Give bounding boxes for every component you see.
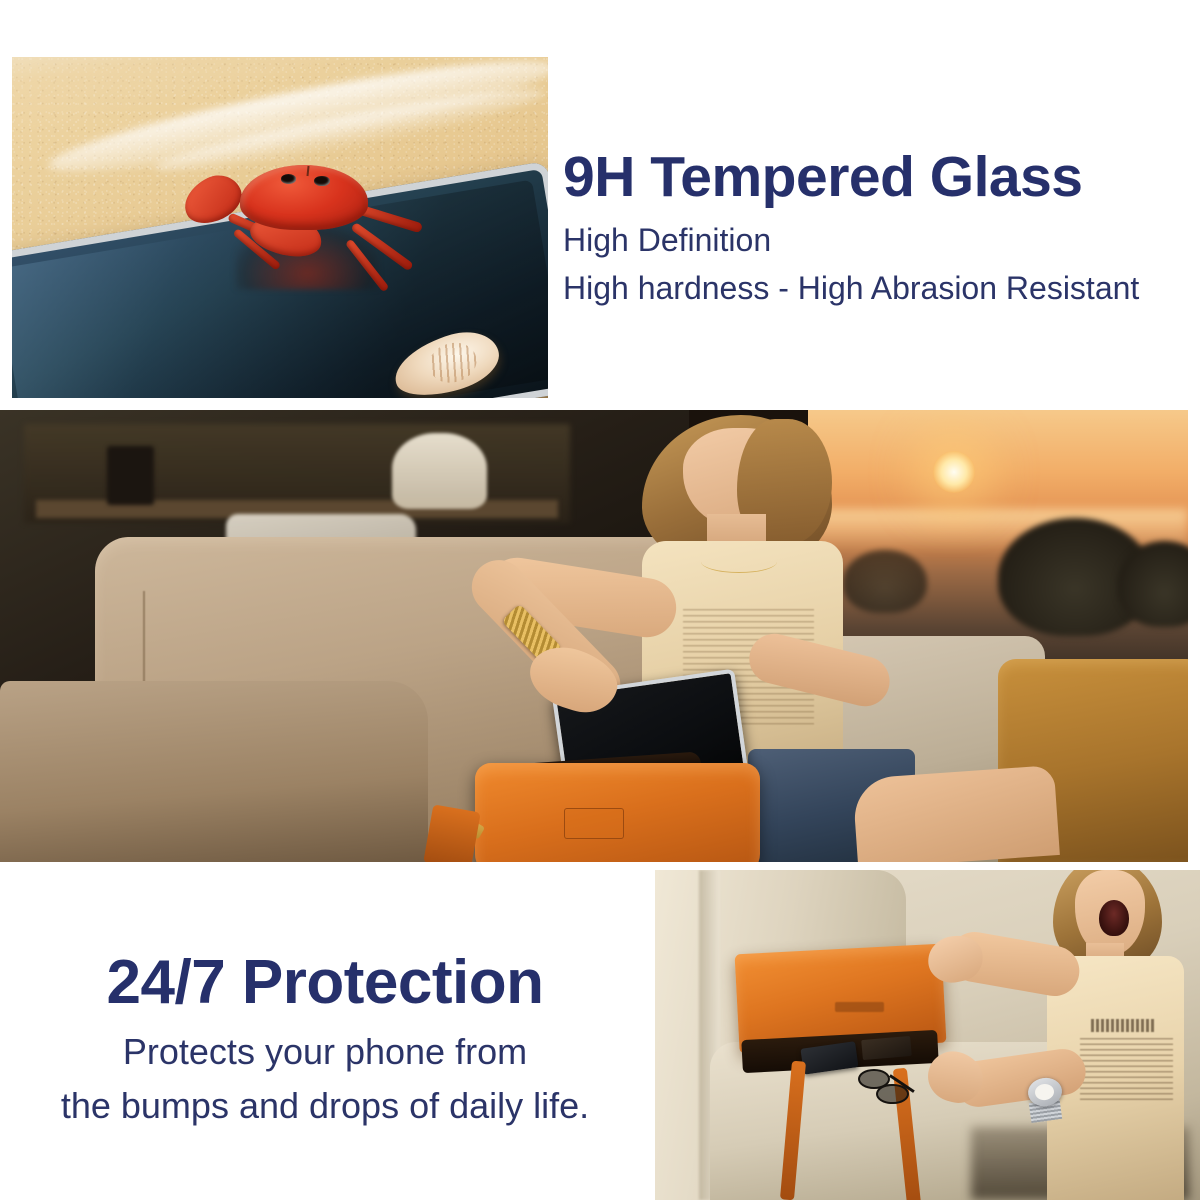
- protection-subtitle-line-2: the bumps and drops of daily life.: [0, 1080, 650, 1132]
- gold-necklace: [701, 550, 777, 573]
- crab: [173, 139, 430, 303]
- sun: [933, 451, 975, 493]
- crab-shell: [240, 165, 369, 230]
- beach-crab-photo: [12, 57, 548, 398]
- protection-title: 24/7 Protection: [0, 950, 650, 1017]
- spilled-bag-photo: [655, 870, 1200, 1200]
- crab-antenna: [306, 166, 309, 177]
- shelf-vase: [107, 446, 155, 505]
- sofa-armrest: [0, 681, 428, 862]
- bag-brand-tag: [564, 808, 623, 840]
- tanktop-print-heading: [1091, 1019, 1156, 1032]
- glass-subtitle-line-2: High hardness - High Abrasion Resistant: [563, 266, 1200, 311]
- crab-eye-right: [314, 176, 329, 186]
- tree-left: [843, 550, 926, 613]
- crab-eye-left: [281, 174, 296, 184]
- woman-leg: [852, 765, 1060, 862]
- sunglasses: [857, 1068, 933, 1114]
- glass-subtitle-line-1: High Definition: [563, 218, 1200, 263]
- glass-feature-text-block: 9H Tempered Glass High Definition High h…: [563, 148, 1200, 312]
- table-lamp: [392, 433, 487, 510]
- protection-text-block: 24/7 Protection Protects your phone from…: [0, 950, 650, 1132]
- glass-title: 9H Tempered Glass: [563, 148, 1200, 208]
- tote-brand-logo: [835, 1002, 884, 1012]
- livingroom-sunset-photo: [0, 410, 1188, 862]
- open-mouth: [1099, 900, 1128, 936]
- protection-subtitle-line-1: Protects your phone from: [0, 1026, 650, 1078]
- tanktop-print-paragraph: [1080, 1038, 1173, 1104]
- bag-strap: [423, 804, 480, 862]
